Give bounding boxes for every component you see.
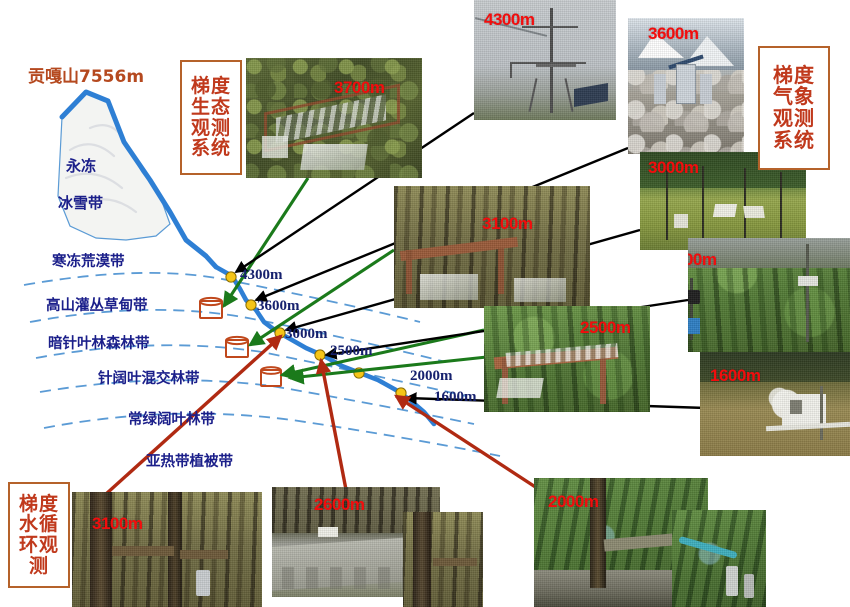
elevation-label-3000m: 3000m — [285, 326, 328, 343]
photo-caption: 3700m — [334, 78, 384, 98]
photo-4300m: 4300m — [474, 0, 616, 120]
photo-2300m: 2300m — [688, 238, 850, 352]
photo-caption: 3600m — [648, 24, 698, 44]
box-gradient-meteorology-observation-system: 梯度气象观测系统 — [758, 46, 830, 170]
photo-2500m: 2500m — [484, 306, 650, 412]
photo-2000m-detail — [672, 510, 766, 607]
zone-alpine-shrub-meadow: 高山灌丛草甸带 — [46, 294, 148, 315]
photo-caption: 3000m — [648, 158, 698, 178]
photo-caption: 3100m — [482, 214, 532, 234]
elevation-label-4300m: 4300m — [240, 267, 283, 284]
photo-3100m-water: 3100m — [72, 492, 262, 607]
snow-zone-line-2: 冰雪带 — [58, 192, 103, 213]
elevation-label-3600m: 3600m — [257, 298, 300, 315]
zone-dark-conifer-forest: 暗针叶林森林带 — [48, 332, 150, 353]
photo-3600m: 3600m — [628, 18, 744, 154]
zone-evergreen-broadleaf: 常绿阔叶林带 — [128, 408, 215, 429]
zone-subtropical: 亚热带植被带 — [146, 450, 233, 471]
photo-caption: 2500m — [580, 318, 630, 338]
zone-frost-desert: 寒冻荒漠带 — [52, 250, 125, 271]
snow-zone-line-1: 永冻 — [66, 155, 96, 176]
photo-caption: 3100m — [92, 514, 142, 534]
elevation-label-2500m: 2500m — [330, 343, 373, 360]
elevation-label-2000m: 2000m — [410, 368, 453, 385]
box-gradient-ecology-observation-system: 梯度生态观测系统 — [180, 60, 242, 175]
zone-mixed-forest: 针阔叶混交林带 — [98, 367, 200, 388]
box-gradient-water-cycle-observation: 梯度水循环观测 — [8, 482, 70, 588]
photo-caption: 2600m — [314, 495, 364, 515]
diagram-canvas: 3700m 4300m 3600m 3000m — [0, 0, 850, 607]
photo-1600m: 1600m — [700, 352, 850, 456]
photo-3700m: 3700m — [246, 58, 422, 178]
photo-3100m: 3100m — [394, 186, 590, 308]
photo-caption: 2000m — [548, 492, 598, 512]
photo-caption: 1600m — [710, 366, 760, 386]
photo-caption: 4300m — [484, 10, 534, 30]
photo-caption: 2300m — [688, 250, 716, 270]
peak-label: 贡嘎山7556m — [28, 62, 144, 87]
elevation-label-1600m: 1600m — [434, 389, 477, 406]
photo-2600m-detail — [403, 512, 483, 607]
